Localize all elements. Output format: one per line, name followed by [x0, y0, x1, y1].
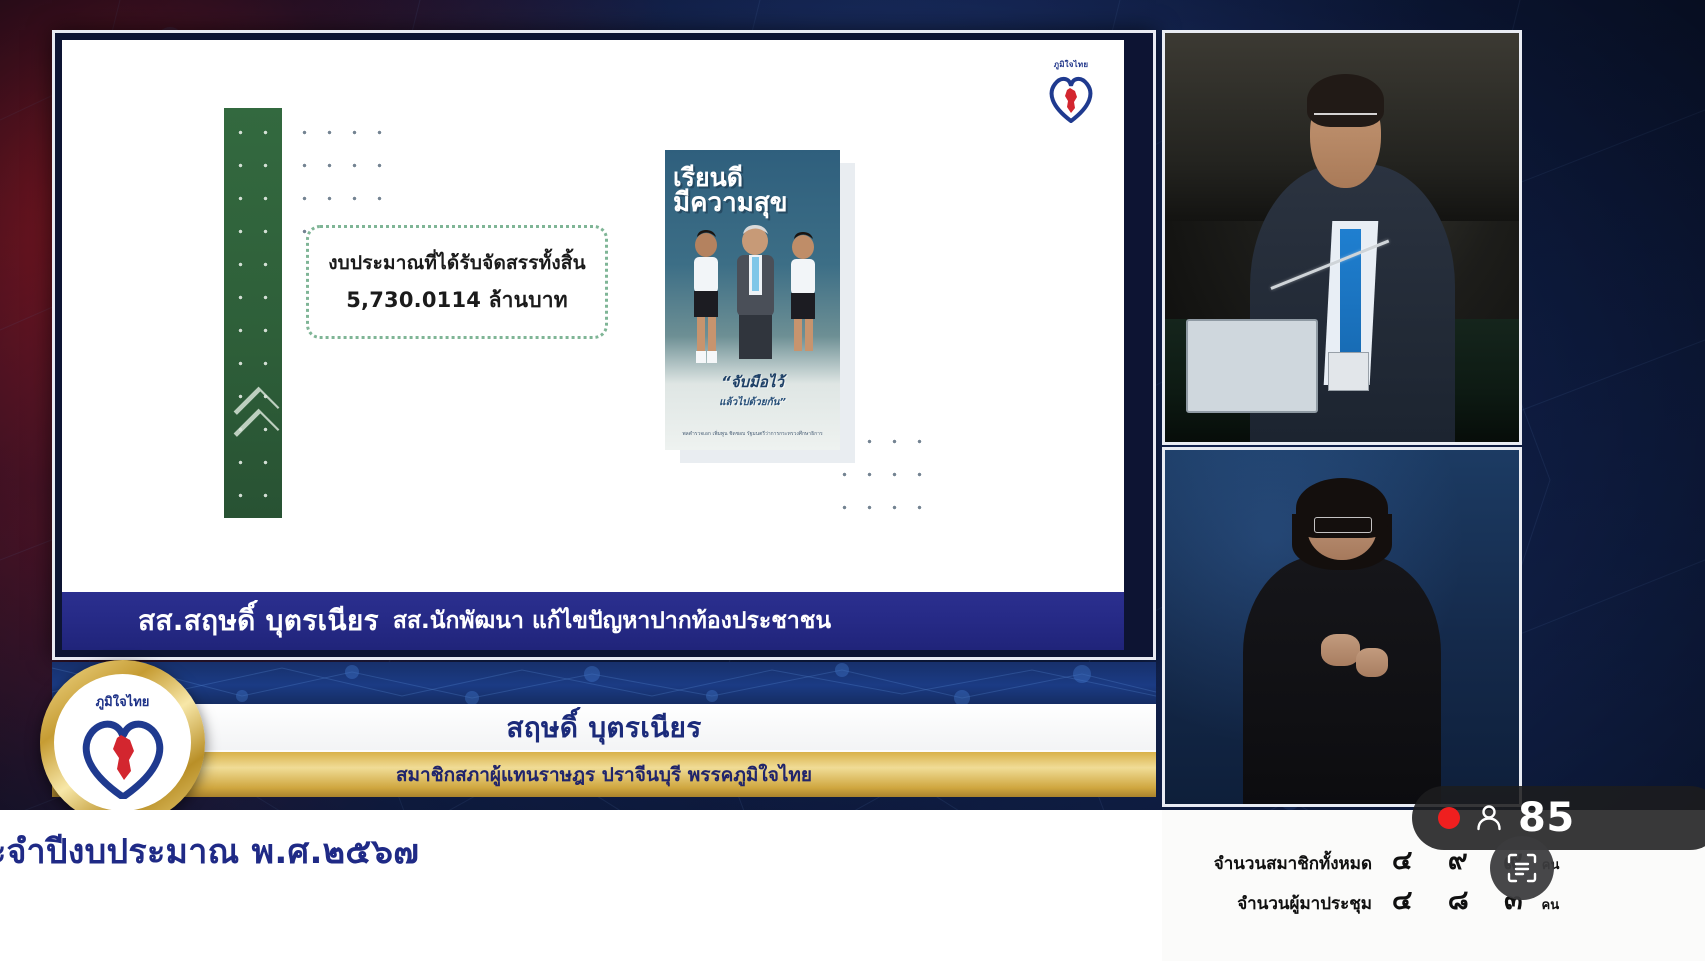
- party-emblem-heart-icon: [75, 713, 171, 799]
- lower-third-network-pattern: [52, 662, 1156, 704]
- speaker-glasses: [1314, 113, 1378, 131]
- scan-text-button[interactable]: [1490, 836, 1554, 900]
- budget-callout-line2: 5,730.0114 ล้านบาท: [346, 284, 568, 317]
- poster-credit: พลตำรวจเอก เพิ่มพูน ชิดชอบ รัฐมนตรีว่ากา…: [665, 431, 840, 439]
- broadcast-screen: งบประมาณที่ได้รับจัดสรรทั้งสิ้น 5,730.01…: [0, 0, 1705, 961]
- chamber-background: [1165, 33, 1519, 442]
- attendance-present-unit: คน: [1542, 894, 1560, 915]
- person-icon: [1474, 803, 1504, 833]
- viewer-count: 85: [1518, 795, 1575, 841]
- signer-glasses: [1314, 517, 1373, 533]
- signer-body: [1243, 556, 1441, 807]
- lower-third-role: สมาชิกสภาผู้แทนราษฎร ปราจีนบุรี พรรคภูมิ…: [396, 760, 812, 790]
- bottom-caption-text: ะจำปีงบประมาณ พ.ศ.๒๕๖๗: [0, 824, 1088, 878]
- slide-party-logo: ภูมิใจไทย: [1040, 58, 1102, 124]
- slide-banner-name: สส.สฤษดิ์ บุตรเนียร: [138, 599, 379, 643]
- speaker-video-tile[interactable]: [1162, 30, 1522, 445]
- scan-text-icon: [1505, 851, 1539, 885]
- sign-language-video-tile[interactable]: [1162, 447, 1522, 807]
- lower-third-blue-strip: [52, 662, 1156, 704]
- lower-third-name-row: สฤษดิ์ บุตรเนียร: [52, 704, 1156, 752]
- poster-quote-line2: แล้วไปด้วยกัน”: [665, 395, 840, 410]
- poster-title-line2: มีความสุข: [673, 191, 834, 216]
- poster-quote: “จับมือไว้ แล้วไปด้วยกัน”: [665, 370, 840, 410]
- budget-callout-box: งบประมาณที่ได้รับจัดสรรทั้งสิ้น 5,730.01…: [306, 225, 608, 339]
- poster-figures: [679, 223, 829, 388]
- slide-bottom-banner: สส.สฤษดิ์ บุตรเนียร สส.นักพัฒนา แก้ไขปัญ…: [62, 592, 1124, 650]
- party-emblem-inner: ภูมิใจไทย: [54, 674, 191, 811]
- speaker-id-badge: [1328, 352, 1369, 391]
- attendance-total-label: จำนวนสมาชิกทั้งหมด: [1176, 850, 1372, 877]
- lower-third: สฤษดิ์ บุตรเนียร สมาชิกสภาผู้แทนราษฎร ปร…: [52, 662, 1156, 797]
- speaker-tablet: [1186, 319, 1317, 413]
- lower-third-name: สฤษดิ์ บุตรเนียร: [506, 706, 701, 750]
- lower-third-gold-row: สมาชิกสภาผู้แทนราษฎร ปราจีนบุรี พรรคภูมิ…: [52, 752, 1156, 797]
- slide-party-logo-label: ภูมิใจไทย: [1040, 58, 1102, 71]
- presentation-slide: งบประมาณที่ได้รับจัดสรรทั้งสิ้น 5,730.01…: [62, 40, 1124, 650]
- dot-pattern-top-right-of-bar: [292, 116, 402, 236]
- sign-language-background: [1165, 450, 1519, 804]
- poster-quote-line1: “จับมือไว้: [721, 373, 784, 391]
- signer-hand-left: [1321, 634, 1360, 666]
- attendance-present-label: จำนวนผู้มาประชุม: [1176, 890, 1372, 917]
- slide-banner-tagline: สส.นักพัฒนา แก้ไขปัญหาปากท้องประชาชน: [393, 603, 831, 639]
- education-poster: เรียนดี มีความสุข: [665, 150, 840, 450]
- party-emblem: ภูมิใจไทย: [40, 660, 205, 825]
- live-dot-icon: [1438, 807, 1460, 829]
- party-emblem-label: ภูมิใจไทย: [96, 691, 150, 712]
- viewer-count-pill[interactable]: 85: [1412, 786, 1705, 850]
- budget-callout-line1: งบประมาณที่ได้รับจัดสรรทั้งสิ้น: [328, 248, 586, 278]
- chevron-up-icon-2: [232, 422, 278, 438]
- party-heart-icon: [1045, 73, 1097, 123]
- dot-pattern-on-bar: [228, 116, 282, 514]
- poster-title: เรียนดี มีความสุข: [673, 166, 834, 215]
- signer-hand-right: [1356, 648, 1388, 676]
